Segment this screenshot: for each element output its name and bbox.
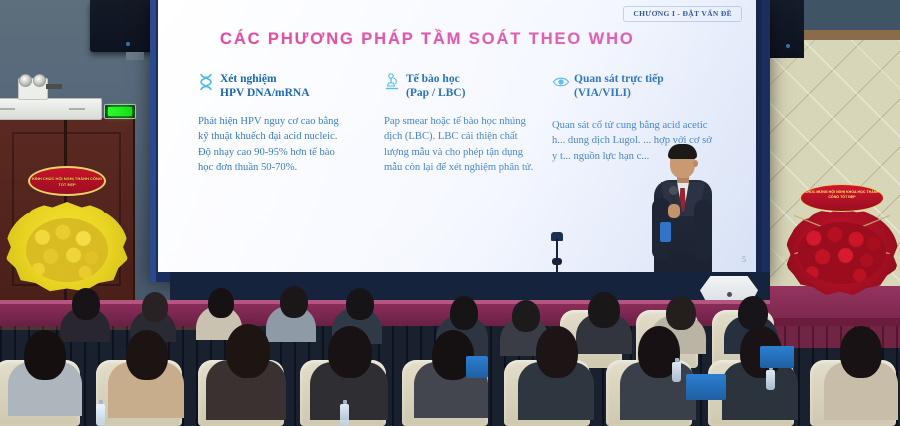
presenter-hair bbox=[668, 144, 697, 159]
flower-left-banner-text: KÍNH CHÚC HỘI NGHỊ THÀNH CÔNG TỐT ĐẸP bbox=[30, 176, 104, 187]
projector-lens-secondary-icon bbox=[33, 74, 46, 87]
audience-head bbox=[738, 296, 768, 330]
audience-head bbox=[346, 288, 374, 320]
presenter-arm-right bbox=[694, 200, 712, 260]
microphone-head-icon bbox=[669, 186, 678, 195]
column-1-body: Phát hiện HPV nguy cơ cao bằng kỹ thuật … bbox=[198, 114, 348, 176]
audience-head bbox=[24, 330, 66, 380]
presenter-figure bbox=[650, 142, 720, 284]
water-bottle bbox=[672, 362, 681, 382]
audience-area bbox=[0, 282, 900, 426]
flower-left-blooms bbox=[26, 218, 108, 282]
screen-edge-left bbox=[150, 0, 156, 282]
slide-title: CÁC PHƯƠNG PHÁP TẦM SOÁT THEO WHO bbox=[220, 30, 635, 49]
flower-right-blooms bbox=[798, 222, 886, 284]
audience-head bbox=[226, 324, 270, 378]
water-bottle bbox=[340, 404, 349, 426]
audience-head bbox=[208, 288, 234, 318]
dna-helix-icon bbox=[198, 73, 214, 91]
eye-icon bbox=[552, 73, 568, 91]
audience-head bbox=[280, 286, 308, 318]
audience-head bbox=[328, 326, 372, 378]
audience-head bbox=[536, 326, 578, 378]
column-2-header: Tế bào học (Pap / LBC) bbox=[384, 72, 556, 100]
flower-left-banner: KÍNH CHÚC HỘI NGHỊ THÀNH CÔNG TỐT ĐẸP bbox=[28, 166, 106, 196]
speaker-bracket bbox=[126, 52, 144, 60]
column-3-header: Quan sát trực tiếp (VIA/VILI) bbox=[552, 72, 730, 100]
audience-head bbox=[666, 296, 696, 330]
microscope-icon bbox=[384, 73, 400, 91]
column-2-body: Pap smear hoặc tế bào học nhúng dịch (LB… bbox=[384, 114, 534, 176]
column-1-title: Xét nghiệm HPV DNA/mRNA bbox=[220, 72, 310, 100]
wall-equipment-unit bbox=[0, 98, 102, 120]
water-bottle bbox=[96, 404, 105, 426]
audience-head bbox=[450, 296, 478, 330]
slide-page-number: 5 bbox=[742, 255, 746, 264]
column-hpv-dna: Xét nghiệm HPV DNA/mRNA Phát hiện HPV ng… bbox=[198, 72, 370, 176]
presenter-hand bbox=[668, 204, 680, 218]
audience-head bbox=[512, 300, 540, 332]
flower-right-banner: CHÚC MỪNG HỘI NGHỊ KHOA HỌC THÀNH CÔNG T… bbox=[800, 184, 884, 212]
flower-right-banner-text: CHÚC MỪNG HỘI NGHỊ KHOA HỌC THÀNH CÔNG T… bbox=[801, 190, 883, 200]
screenshot-root: CHƯƠNG I - ĐẶT VẤN ĐỀ CÁC PHƯƠNG PHÁP TẦ… bbox=[0, 0, 900, 426]
equipment-case bbox=[466, 356, 488, 378]
water-bottle bbox=[766, 370, 775, 390]
mic-stand-clip bbox=[552, 258, 562, 265]
audience-head bbox=[142, 292, 168, 322]
audience-head bbox=[588, 292, 620, 328]
projector-arm bbox=[46, 84, 62, 89]
presenter-badge bbox=[660, 222, 671, 242]
column-cytology: Tế bào học (Pap / LBC) Pap smear hoặc tế… bbox=[384, 72, 556, 176]
audience-head bbox=[126, 330, 168, 380]
presenter-ear bbox=[693, 160, 698, 167]
exit-sign bbox=[104, 104, 136, 119]
column-2-title: Tế bào học (Pap / LBC) bbox=[406, 72, 465, 100]
projector-lens-icon bbox=[19, 74, 32, 87]
chapter-badge: CHƯƠNG I - ĐẶT VẤN ĐỀ bbox=[623, 6, 742, 22]
audience-head bbox=[72, 288, 100, 320]
equipment-case bbox=[760, 346, 794, 368]
column-1-header: Xét nghiệm HPV DNA/mRNA bbox=[198, 72, 370, 100]
equipment-case bbox=[686, 374, 726, 400]
column-3-title: Quan sát trực tiếp (VIA/VILI) bbox=[574, 72, 664, 100]
audience-head bbox=[840, 326, 882, 378]
